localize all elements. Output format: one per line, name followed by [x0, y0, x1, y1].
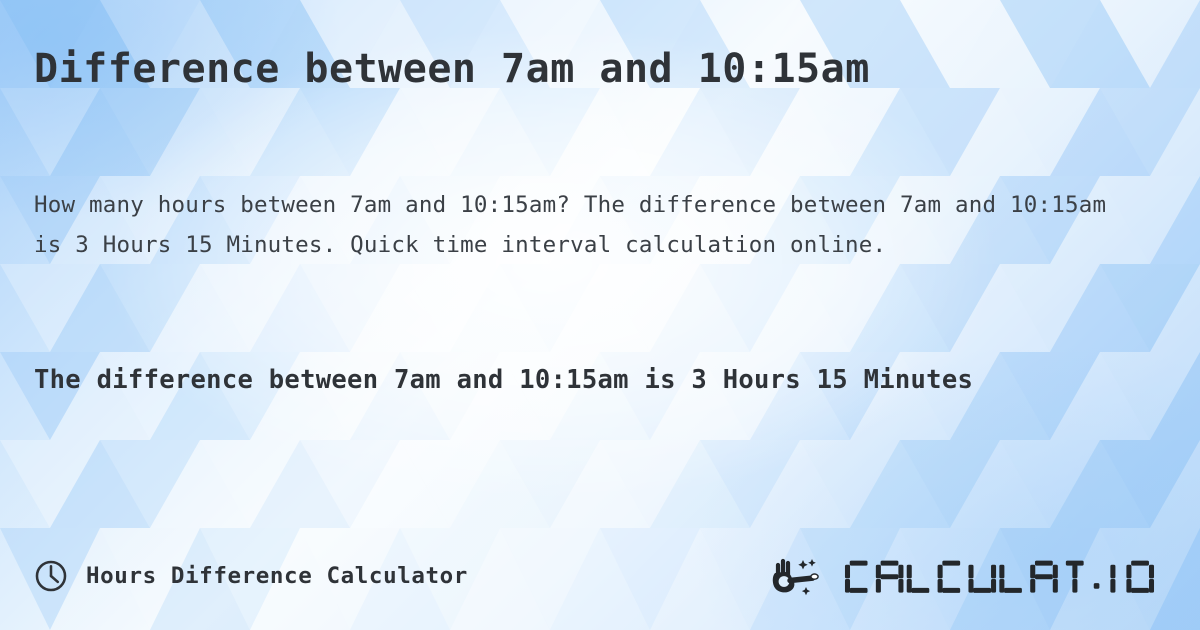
summary-paragraph: How many hours between 7am and 10:15am? … — [34, 185, 1134, 265]
brand-name — [842, 554, 1175, 598]
clock-icon — [34, 559, 68, 593]
hand-magic-wand-icon — [770, 554, 832, 598]
footer: Hours Difference Calculator — [34, 550, 1174, 602]
page-title: Difference between 7am and 10:15am — [34, 46, 870, 92]
answer-statement: The difference between 7am and 10:15am i… — [34, 357, 1114, 404]
footer-brand-left[interactable]: Hours Difference Calculator — [34, 559, 468, 593]
brand-logo[interactable] — [770, 554, 1175, 598]
card-content: Difference between 7am and 10:15am How m… — [0, 0, 1200, 630]
share-card: Difference between 7am and 10:15am How m… — [0, 0, 1200, 630]
brand-wordmark-svg — [842, 557, 1175, 595]
footer-label: Hours Difference Calculator — [86, 563, 468, 589]
